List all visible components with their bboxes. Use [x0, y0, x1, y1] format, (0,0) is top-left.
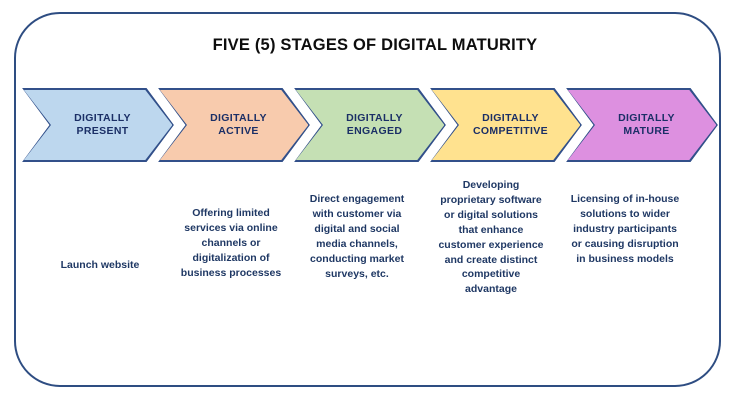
stage-label-line-1: DIGITALLY	[346, 112, 403, 125]
stage-label-line-1: DIGITALLY	[618, 112, 675, 125]
stage-label-line-2: MATURE	[618, 125, 675, 138]
stage-chevron-digitally-active[interactable]: DIGITALLY ACTIVE	[158, 88, 310, 162]
stage-label-line-2: PRESENT	[74, 125, 131, 138]
stage-chevron-digitally-engaged[interactable]: DIGITALLY ENGAGED	[294, 88, 446, 162]
stage-label-line-2: ENGAGED	[346, 125, 403, 138]
stage-label-line-1: DIGITALLY	[74, 112, 131, 125]
stage-description-digitally-engaged: Direct engagement with customer via digi…	[304, 192, 410, 281]
stage-chevron-label: DIGITALLY COMPETITIVE	[473, 112, 548, 138]
stage-description-digitally-present: Launch website	[52, 258, 148, 273]
stage-chevron-band: DIGITALLY PRESENT DIGITALLY ACTIVE DIGIT…	[0, 88, 750, 162]
diagram-canvas: FIVE (5) STAGES OF DIGITAL MATURITY DIGI…	[0, 0, 750, 400]
stage-chevron-digitally-competitive[interactable]: DIGITALLY COMPETITIVE	[430, 88, 582, 162]
stage-description-digitally-active: Offering limited services via online cha…	[176, 206, 286, 281]
stage-label-line-2: COMPETITIVE	[473, 125, 548, 138]
stage-chevron-digitally-present[interactable]: DIGITALLY PRESENT	[22, 88, 174, 162]
stage-chevron-label: DIGITALLY ENGAGED	[346, 112, 403, 138]
page-title: FIVE (5) STAGES OF DIGITAL MATURITY	[0, 36, 750, 55]
stage-chevron-label: DIGITALLY PRESENT	[74, 112, 131, 138]
stage-description-digitally-competitive: Developing proprietary software or digit…	[436, 178, 546, 297]
stage-description-digitally-mature: Licensing of in-house solutions to wider…	[570, 192, 680, 267]
stage-chevron-digitally-mature[interactable]: DIGITALLY MATURE	[566, 88, 718, 162]
stage-label-line-1: DIGITALLY	[210, 112, 267, 125]
stage-chevron-label: DIGITALLY ACTIVE	[210, 112, 267, 138]
stage-label-line-2: ACTIVE	[210, 125, 267, 138]
stage-chevron-label: DIGITALLY MATURE	[618, 112, 675, 138]
stage-label-line-1: DIGITALLY	[473, 112, 548, 125]
